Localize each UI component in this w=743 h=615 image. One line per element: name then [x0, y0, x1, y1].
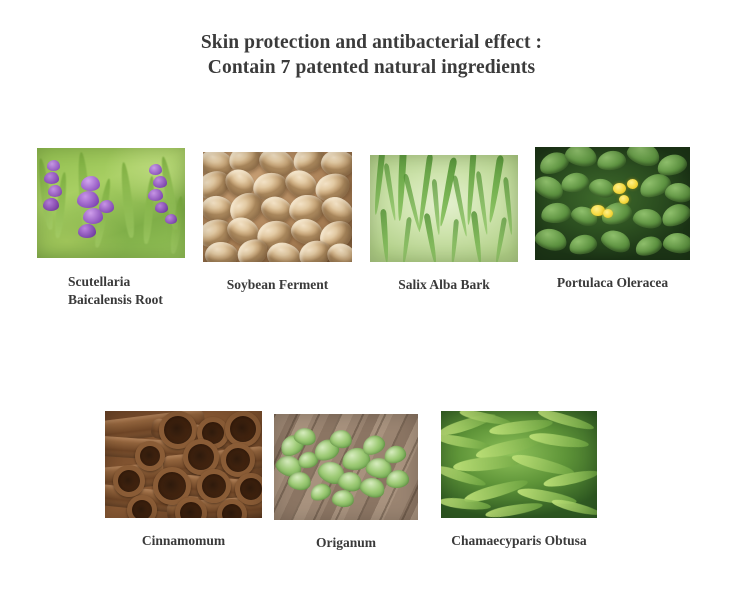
page-title: Skin protection and antibacterial effect… [0, 30, 743, 80]
ingredient-image-cinnamomum [105, 411, 262, 518]
ingredient-card-chamaecyparis-obtusa: Chamaecyparis Obtusa [441, 411, 597, 550]
ingredient-label-cinnamomum: Cinnamomum [105, 532, 262, 550]
yellow-flowers [535, 147, 690, 260]
ingredient-card-soybean-ferment: Soybean Ferment [203, 152, 352, 294]
page-title-line-1: Skin protection and antibacterial effect… [0, 30, 743, 55]
ingredient-label-chamaecyparis-obtusa: Chamaecyparis Obtusa [441, 532, 597, 550]
ingredient-card-cinnamomum: Cinnamomum [105, 411, 262, 550]
ingredient-label-origanum: Origanum [274, 534, 418, 552]
purple-flower-spikes [37, 148, 185, 258]
ingredient-label-soybean-ferment: Soybean Ferment [203, 276, 352, 294]
ingredient-card-portulaca-oleracea: Portulaca Oleracea [535, 147, 690, 292]
ingredient-image-origanum [274, 414, 418, 520]
ingredient-card-origanum: Origanum [274, 414, 418, 552]
ingredient-card-scutellaria-baicalensis-root: Scutellaria Baicalensis Root [37, 148, 185, 309]
oregano-sprigs [274, 414, 418, 520]
ingredient-label-salix-alba-bark: Salix Alba Bark [370, 276, 518, 294]
ingredient-image-portulaca-oleracea [535, 147, 690, 260]
cinnamon-sticks [105, 411, 262, 518]
bean-pile [203, 152, 352, 262]
page-title-line-2: Contain 7 patented natural ingredients [0, 55, 743, 80]
ingredient-card-salix-alba-bark: Salix Alba Bark [370, 155, 518, 294]
willow-leaf-layer [370, 155, 518, 262]
ingredient-image-salix-alba-bark [370, 155, 518, 262]
ingredient-label-scutellaria-baicalensis-root: Scutellaria Baicalensis Root [68, 273, 188, 309]
ingredient-image-chamaecyparis-obtusa [441, 411, 597, 518]
ingredient-label-portulaca-oleracea: Portulaca Oleracea [535, 274, 690, 292]
ingredient-image-soybean-ferment [203, 152, 352, 262]
cypress-fronds [441, 411, 597, 518]
ingredient-image-scutellaria-baicalensis-root [37, 148, 185, 258]
